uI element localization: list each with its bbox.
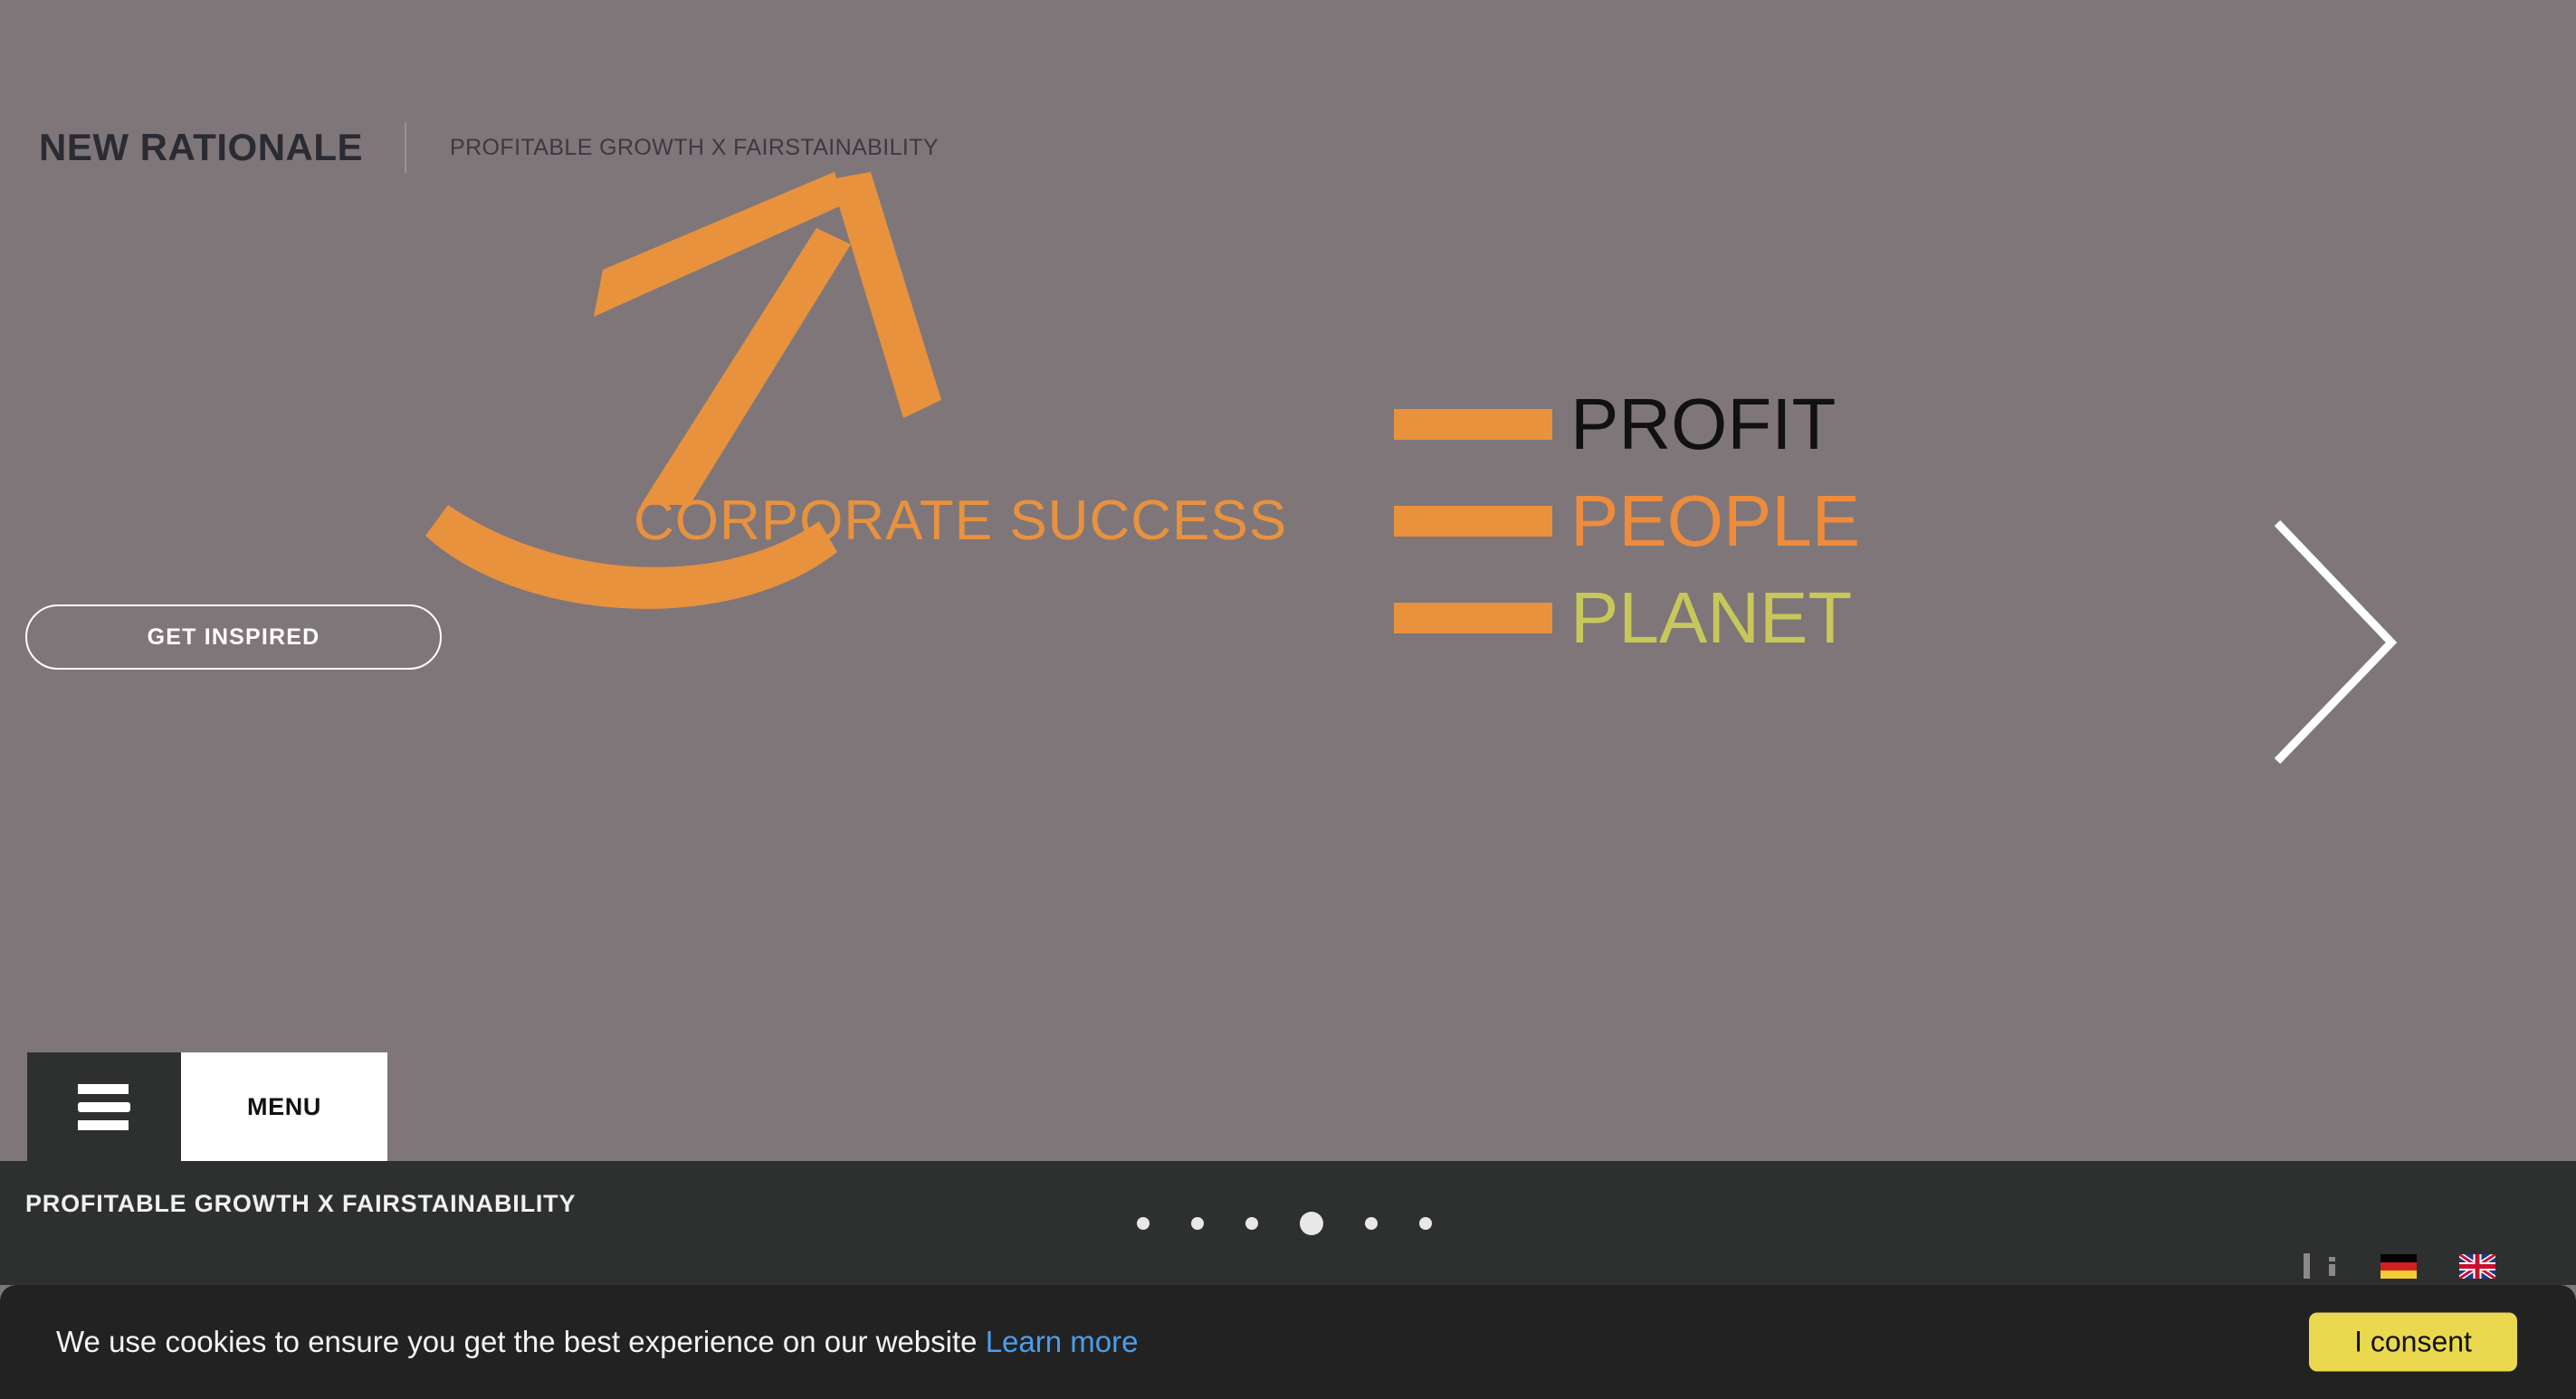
pillars-list: PROFIT PEOPLE PLANET xyxy=(1394,376,1860,666)
carousel-dot-4-active[interactable] xyxy=(1300,1212,1323,1235)
pillar-row-profit: PROFIT xyxy=(1394,376,1860,472)
cookie-banner: We use cookies to ensure you get the bes… xyxy=(0,1285,2576,1399)
carousel-dot-2[interactable] xyxy=(1191,1217,1204,1230)
brand-name: NEW RATIONALE xyxy=(39,126,363,169)
growth-arrow-icon xyxy=(425,172,1385,652)
carousel-dot-1[interactable] xyxy=(1137,1217,1150,1230)
cookie-message: We use cookies to ensure you get the bes… xyxy=(56,1325,978,1358)
carousel-dot-3[interactable] xyxy=(1245,1217,1258,1230)
get-inspired-button[interactable]: GET INSPIRED xyxy=(25,604,442,670)
carousel-dot-5[interactable] xyxy=(1365,1217,1378,1230)
brand-header: NEW RATIONALE PROFITABLE GROWTH X FAIRST… xyxy=(39,122,939,173)
carousel-dot-6[interactable] xyxy=(1419,1217,1432,1230)
language-mark-icon xyxy=(2304,1253,2310,1279)
pillar-row-people: PEOPLE xyxy=(1394,472,1860,569)
hamburger-lines xyxy=(78,1084,130,1130)
pillar-bar-icon xyxy=(1394,603,1552,633)
menu-button[interactable]: MENU xyxy=(27,1052,387,1161)
pillar-label-planet: PLANET xyxy=(1570,582,1852,654)
pillar-label-people: PEOPLE xyxy=(1570,485,1860,557)
brand-divider xyxy=(405,122,406,173)
uk-flag[interactable] xyxy=(2459,1254,2495,1279)
learn-more-link[interactable]: Learn more xyxy=(986,1325,1139,1358)
pillar-label-profit: PROFIT xyxy=(1570,388,1836,461)
carousel-dots xyxy=(1137,1211,1432,1236)
pillar-row-planet: PLANET xyxy=(1394,569,1860,666)
corporate-success-text: CORPORATE SUCCESS xyxy=(634,489,1287,553)
german-flag[interactable] xyxy=(2380,1254,2417,1279)
chevron-right-icon[interactable] xyxy=(2272,518,2399,766)
menu-label[interactable]: MENU xyxy=(181,1052,387,1161)
consent-button[interactable]: I consent xyxy=(2309,1313,2517,1372)
brand-tagline: PROFITABLE GROWTH X FAIRSTAINABILITY xyxy=(450,135,939,161)
pillar-bar-icon xyxy=(1394,506,1552,537)
footer-title: PROFITABLE GROWTH X FAIRSTAINABILITY xyxy=(25,1190,576,1218)
cookie-message-wrap: We use cookies to ensure you get the bes… xyxy=(56,1325,1138,1359)
language-info-icon xyxy=(2329,1257,2335,1276)
hamburger-icon[interactable] xyxy=(27,1052,181,1161)
language-switcher xyxy=(2304,1253,2495,1279)
page-root: NEW RATIONALE PROFITABLE GROWTH X FAIRST… xyxy=(0,0,2576,1399)
pillar-bar-icon xyxy=(1394,409,1552,440)
